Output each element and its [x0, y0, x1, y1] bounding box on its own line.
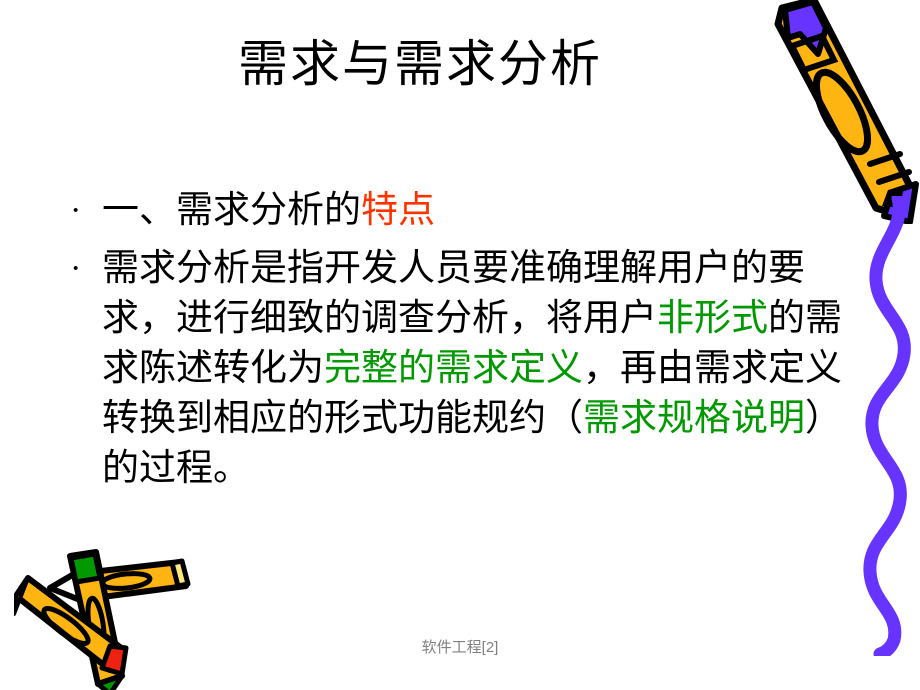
bullet-text-1: 一、需求分析的特点: [102, 186, 860, 236]
crayons-bottom-left-icon: [14, 534, 214, 690]
bullet-1-run-2-highlight: 特点: [361, 190, 435, 231]
bullet-2-run-2-highlight: 非形式: [657, 298, 768, 339]
bullet-item-1: · 一、需求分析的特点: [70, 186, 860, 236]
page-title: 需求与需求分析: [0, 34, 840, 94]
bullet-2-run-4-highlight: 完整的需求定义: [324, 348, 583, 389]
bullet-marker-icon: ·: [70, 244, 102, 294]
bullet-2-run-6-highlight: 需求规格说明: [583, 398, 805, 439]
presentation-slide: 需求与需求分析 · 一、需求分析的特点 · 需求分析是指开发人员要准确理解用户的…: [0, 0, 920, 690]
bullet-text-2: 需求分析是指开发人员要准确理解用户的要求，进行细致的调查分析，将用户非形式的需求…: [102, 244, 860, 494]
bullet-marker-icon: ·: [70, 186, 102, 236]
bullet-item-2: · 需求分析是指开发人员要准确理解用户的要求，进行细致的调查分析，将用户非形式的…: [70, 244, 860, 494]
slide-body: · 一、需求分析的特点 · 需求分析是指开发人员要准确理解用户的要求，进行细致的…: [70, 186, 860, 494]
slide-footer: 软件工程[2]: [0, 636, 920, 657]
bullet-1-run-1: 一、需求分析的: [102, 190, 361, 231]
